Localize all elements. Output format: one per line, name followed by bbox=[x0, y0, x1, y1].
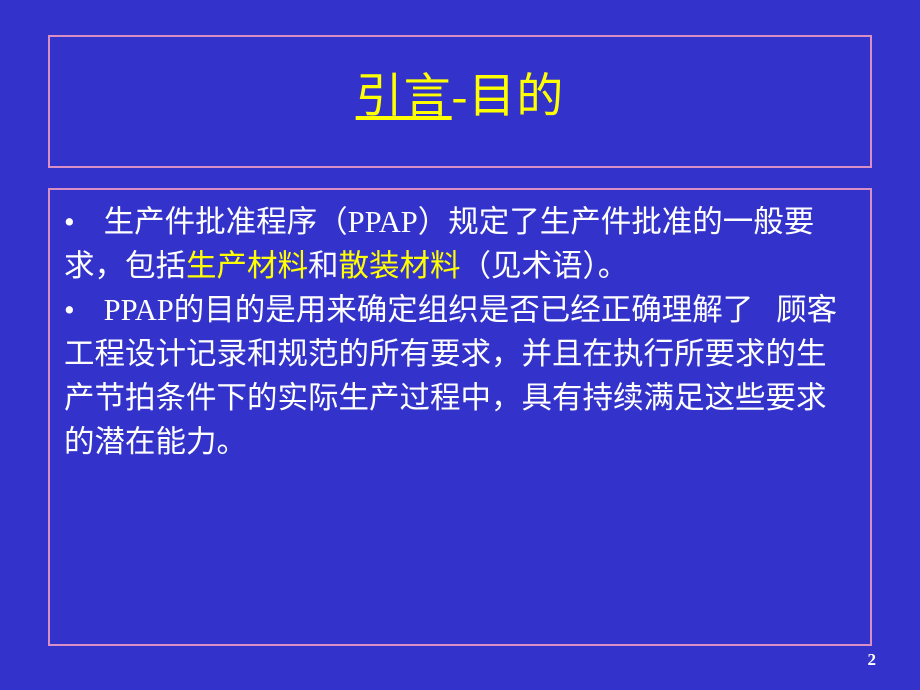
bullet-highlight-term: 散装材料 bbox=[339, 249, 461, 283]
bullet-item: • PPAP的目的是用来确定组织是否已经正确理解了 顾客工程设计记录和规范的所有… bbox=[64, 288, 856, 464]
bullet-text-run: 和 bbox=[308, 249, 339, 283]
slide-title-box: 引言-目的 bbox=[48, 35, 872, 168]
slide-content-box: • 生产件批准程序（PPAP）规定了生产件批准的一般要求，包括生产材料和散装材料… bbox=[48, 188, 872, 646]
bullet-text-run: （见术语）。 bbox=[461, 249, 629, 283]
bullet-text-run: PPAP的目的是用来确定组织是否已经正确理解了 顾客工程设计记录和规范的所有要求… bbox=[64, 293, 837, 459]
page-title: 引言-目的 bbox=[356, 70, 565, 132]
bullet-item: • 生产件批准程序（PPAP）规定了生产件批准的一般要求，包括生产材料和散装材料… bbox=[64, 200, 856, 288]
page-title-underlined: 引言 bbox=[356, 71, 452, 123]
bullet-marker-icon: • bbox=[64, 288, 96, 332]
bullet-highlight-term: 生产材料 bbox=[186, 249, 308, 283]
bullet-list: • 生产件批准程序（PPAP）规定了生产件批准的一般要求，包括生产材料和散装材料… bbox=[64, 200, 856, 464]
page-number: 2 bbox=[868, 650, 877, 670]
page-title-rest: -目的 bbox=[452, 71, 565, 123]
bullet-marker-icon: • bbox=[64, 200, 96, 244]
